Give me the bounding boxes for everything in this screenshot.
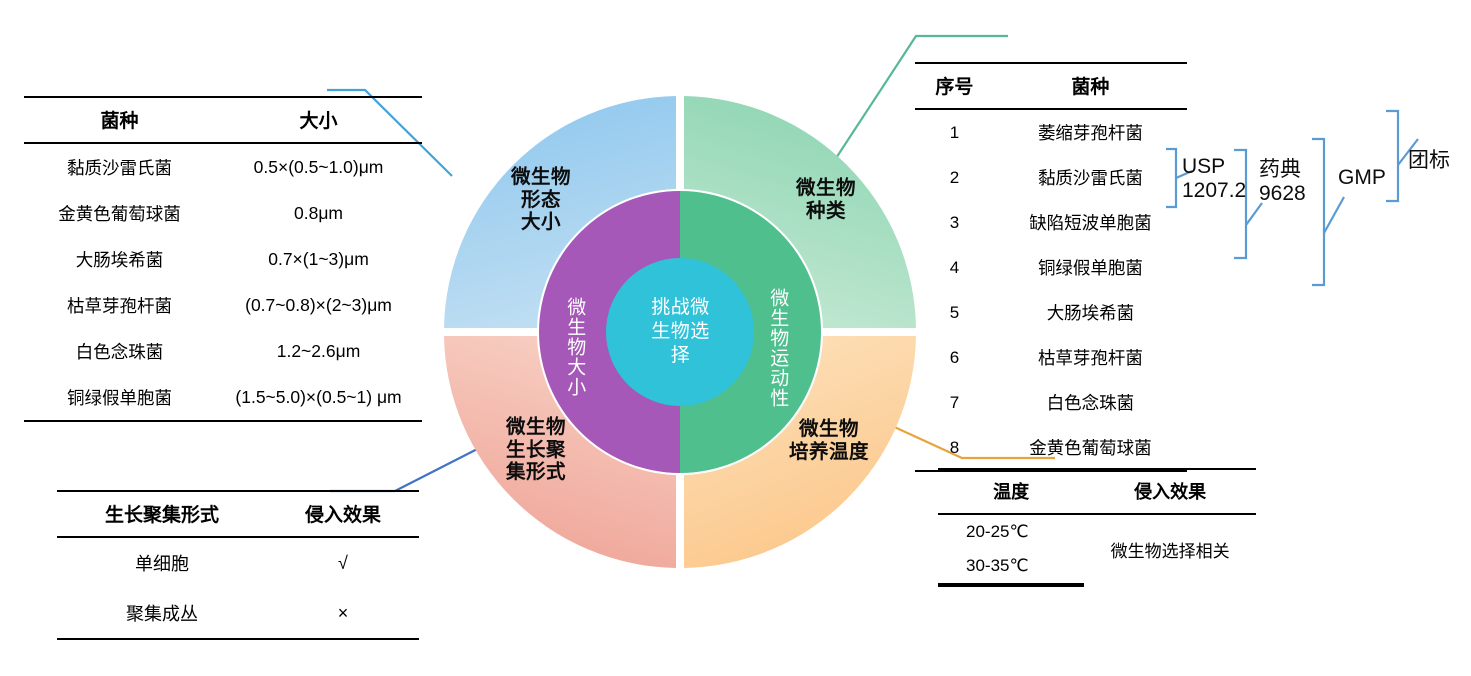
cell-r2-c1: 0.7×(1~3)μm [215, 236, 422, 282]
table-growth-form: 生长聚集形式 侵入效果 单细胞√聚集成丛× [57, 490, 419, 640]
cell-r1-c1: 0.8μm [215, 190, 422, 236]
col-header-species: 菌种 [994, 63, 1187, 109]
col-header-species: 菌种 [24, 97, 215, 143]
table-row: 1萎缩芽孢杆菌 [915, 109, 1187, 155]
cell-invasion-effect: 微生物选择相关 [1084, 514, 1256, 584]
table-row: 3缺陷短波单胞菌 [915, 200, 1187, 245]
center-title-line: 生物选 [623, 320, 738, 344]
bracket-label-gmp: GMP [1338, 166, 1386, 190]
table-header-row: 菌种 大小 [24, 97, 422, 143]
table-row: 8金黄色葡萄球菌 [915, 425, 1187, 471]
cell-r3-c0: 4 [915, 245, 994, 290]
cell-r5-c1: (1.5~5.0)×(0.5~1) μm [215, 374, 422, 421]
table-organism-size: 菌种 大小 黏质沙雷氏菌0.5×(0.5~1.0)μm金黄色葡萄球菌0.8μm大… [24, 96, 422, 422]
cell-r0-c1: √ [267, 537, 419, 588]
center-title-line: 择 [623, 344, 738, 368]
cell-r1-c1: × [267, 588, 419, 639]
table-body: 单细胞√聚集成丛× [57, 537, 419, 639]
table-row: 大肠埃希菌0.7×(1~3)μm [24, 236, 422, 282]
cell-r5-c0: 铜绿假单胞菌 [24, 374, 215, 421]
table-row: 4铜绿假单胞菌 [915, 245, 1187, 290]
table-header-row: 生长聚集形式 侵入效果 [57, 491, 419, 537]
label-line-1: 形态 [476, 189, 606, 212]
table-row: 20-25℃ 微生物选择相关 [938, 514, 1256, 549]
diagram-canvas: 微生物形态大小 微生物种类 微生物生长聚集形式 微生物培养温度 微生物大小 微生… [0, 0, 1471, 676]
cell-r5-c0: 6 [915, 335, 994, 380]
cell-r3-c0: 枯草芽孢杆菌 [24, 282, 215, 328]
col-header-index: 序号 [915, 63, 994, 109]
col-header-invasion-effect: 侵入效果 [1084, 469, 1256, 514]
bracket-label-group-standard: 团标 [1408, 149, 1450, 173]
label-morphology: 微生物形态大小 [476, 166, 606, 234]
cell-r4-c0: 白色念珠菌 [24, 328, 215, 374]
bracket-usp [1166, 149, 1176, 207]
usp-line1: USP [1182, 155, 1246, 179]
table-body: 黏质沙雷氏菌0.5×(0.5~1.0)μm金黄色葡萄球菌0.8μm大肠埃希菌0.… [24, 143, 422, 421]
table-row: 5大肠埃希菌 [915, 290, 1187, 335]
cell-r0-c0: 1 [915, 109, 994, 155]
center-title-line: 挑战微 [623, 296, 738, 320]
table-row: 金黄色葡萄球菌0.8μm [24, 190, 422, 236]
cell-temperature-low: 20-25℃ [938, 514, 1084, 549]
cell-temperature-high: 30-35℃ [938, 549, 1084, 584]
label-line-1: 生长聚 [465, 439, 607, 462]
cell-r0-c1: 0.5×(0.5~1.0)μm [215, 143, 422, 190]
bracket-group-standard [1386, 111, 1398, 201]
col-header-size: 大小 [215, 97, 422, 143]
cell-r7-c0: 8 [915, 425, 994, 471]
cell-r1-c0: 金黄色葡萄球菌 [24, 190, 215, 236]
table-header-row: 温度 侵入效果 [938, 469, 1256, 514]
table-row: 枯草芽孢杆菌(0.7~0.8)×(2~3)μm [24, 282, 422, 328]
table-bottom-rule [938, 584, 1084, 586]
label-inner-motility: 微生物运动性 [767, 245, 788, 451]
label-line-2: 集形式 [465, 461, 607, 484]
table-row: 6枯草芽孢杆菌 [915, 335, 1187, 380]
cell-r0-c0: 黏质沙雷氏菌 [24, 143, 215, 190]
bracket-gmp [1312, 139, 1324, 285]
label-line-1: 种类 [761, 200, 891, 223]
col-header-growth-form: 生长聚集形式 [57, 491, 267, 537]
cell-r1-c0: 聚集成丛 [57, 588, 267, 639]
table-culture-temperature: 温度 侵入效果 20-25℃ 微生物选择相关 30-35℃ [938, 468, 1256, 587]
bracket-label-pharmacopoeia: 药典 9628 [1259, 158, 1306, 205]
pharm-line1: 药典 [1259, 158, 1306, 182]
leader-pharmacopoeia [1246, 203, 1262, 225]
cell-r4-c0: 5 [915, 290, 994, 335]
pharm-line2: 9628 [1259, 182, 1306, 206]
cell-r7-c1: 金黄色葡萄球菌 [994, 425, 1187, 471]
table-row: 黏质沙雷氏菌0.5×(0.5~1.0)μm [24, 143, 422, 190]
table-row: 聚集成丛× [57, 588, 419, 639]
cell-r2-c0: 大肠埃希菌 [24, 236, 215, 282]
cell-r3-c1: (0.7~0.8)×(2~3)μm [215, 282, 422, 328]
center-title: 挑战微生物选择 [623, 296, 738, 367]
cell-r4-c1: 1.2~2.6μm [215, 328, 422, 374]
cell-r6-c0: 7 [915, 380, 994, 425]
label-line-2: 大小 [476, 211, 606, 234]
label-line-0: 微生物 [761, 177, 891, 200]
label-growth: 微生物生长聚集形式 [465, 416, 607, 484]
usp-line2: 1207.2 [1182, 179, 1246, 203]
table-header-row: 序号 菌种 [915, 63, 1187, 109]
cell-r0-c0: 单细胞 [57, 537, 267, 588]
label-species: 微生物种类 [761, 177, 891, 222]
donut-chart: 微生物形态大小 微生物种类 微生物生长聚集形式 微生物培养温度 微生物大小 微生… [443, 93, 917, 571]
table-row: 单细胞√ [57, 537, 419, 588]
table-row: 白色念珠菌1.2~2.6μm [24, 328, 422, 374]
table-body: 1萎缩芽孢杆菌2黏质沙雷氏菌3缺陷短波单胞菌4铜绿假单胞菌5大肠埃希菌6枯草芽孢… [915, 109, 1187, 471]
bracket-label-usp: USP 1207.2 [1182, 155, 1246, 202]
label-line-0: 微生物 [476, 166, 606, 189]
table-row: 铜绿假单胞菌(1.5~5.0)×(0.5~1) μm [24, 374, 422, 421]
cell-r1-c0: 2 [915, 155, 994, 200]
leader-gmp [1324, 197, 1344, 233]
table-row: 2黏质沙雷氏菌 [915, 155, 1187, 200]
col-header-invasion-effect: 侵入效果 [267, 491, 419, 537]
table-row: 7白色念珠菌 [915, 380, 1187, 425]
cell-r2-c0: 3 [915, 200, 994, 245]
table-organism-list: 序号 菌种 1萎缩芽孢杆菌2黏质沙雷氏菌3缺陷短波单胞菌4铜绿假单胞菌5大肠埃希… [915, 62, 1187, 472]
label-inner-size: 微生物大小 [564, 257, 585, 437]
label-line-0: 微生物 [465, 416, 607, 439]
col-header-temperature: 温度 [938, 469, 1084, 514]
